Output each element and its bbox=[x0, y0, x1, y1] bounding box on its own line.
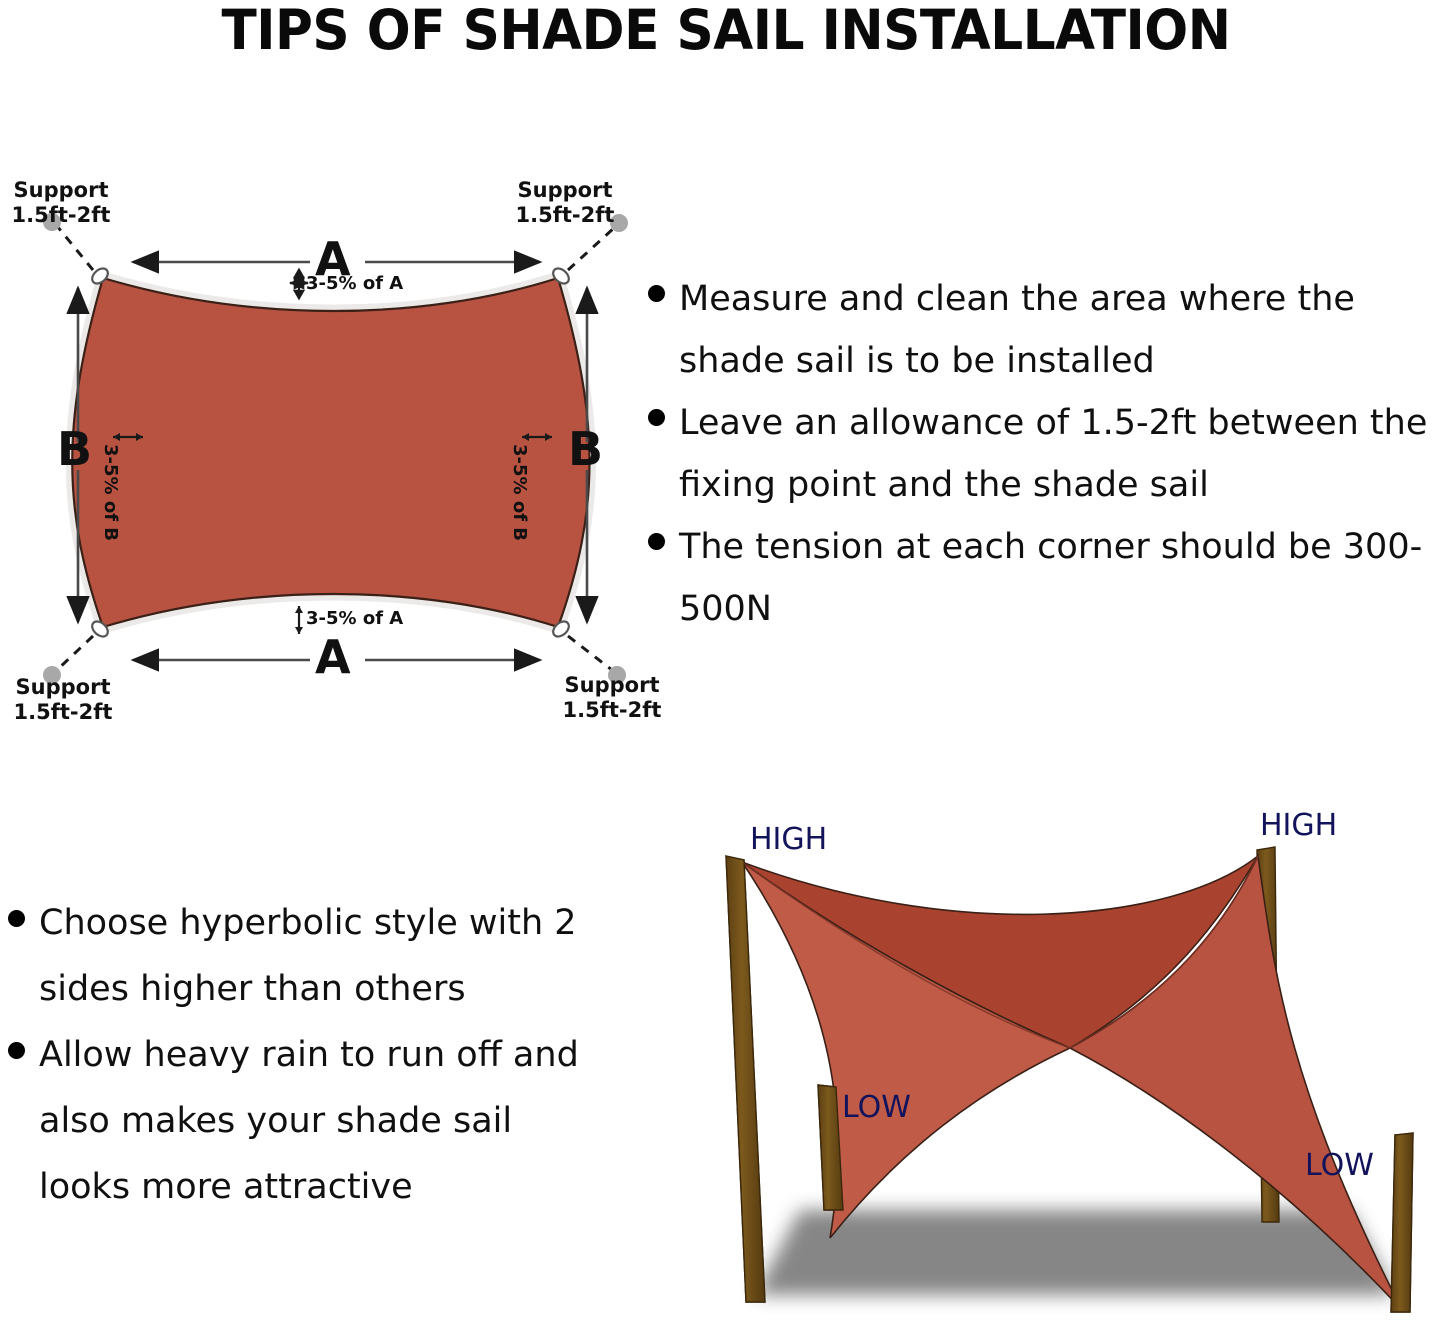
pole-front-right-overlay bbox=[1391, 1133, 1413, 1312]
list-item-label: Allow heavy rain to run off and also mak… bbox=[39, 1022, 614, 1220]
pole-label-low-left: LOW bbox=[842, 1090, 911, 1125]
bullet-dot-icon bbox=[8, 910, 25, 927]
list-item-label: Choose hyperbolic style with 2 sides hig… bbox=[39, 890, 614, 1022]
pole-back-left-overlay bbox=[726, 856, 765, 1302]
list-item: Leave an allowance of 1.5-2ft between th… bbox=[648, 392, 1452, 516]
support-label-line2: 1.5ft-2ft bbox=[12, 203, 111, 227]
page-title: TIPS OF SHADE SAIL INSTALLATION bbox=[44, 0, 1409, 66]
support-label-line1: Support bbox=[16, 675, 111, 699]
list-item: Choose hyperbolic style with 2 sides hig… bbox=[8, 890, 614, 1022]
sag-tick-bottom bbox=[295, 606, 303, 634]
dimension-label-a-bottom: A bbox=[315, 630, 351, 684]
curvature-label-left: 3-5% of B bbox=[100, 444, 121, 541]
support-label-bottom-left: Support 1.5ft-2ft bbox=[8, 675, 118, 725]
pole-label-high-right: HIGH bbox=[1260, 808, 1337, 843]
support-label-line1: Support bbox=[565, 673, 660, 697]
list-item-label: Measure and clean the area where the sha… bbox=[679, 268, 1452, 392]
bullet-dot-icon bbox=[648, 409, 665, 426]
list-item-label: Leave an allowance of 1.5-2ft between th… bbox=[679, 392, 1452, 516]
list-item-label: The tension at each corner should be 300… bbox=[679, 516, 1452, 640]
bullet-dot-icon bbox=[648, 533, 665, 550]
tips-right-list: Measure and clean the area where the sha… bbox=[648, 268, 1452, 640]
curvature-label-bottom: 3-5% of A bbox=[306, 608, 403, 629]
support-label-bottom-right: Support 1.5ft-2ft bbox=[557, 673, 667, 723]
list-item: The tension at each corner should be 300… bbox=[648, 516, 1452, 640]
ground-shadow bbox=[755, 1210, 1395, 1295]
curvature-label-right: 3-5% of B bbox=[509, 444, 530, 541]
rectangular-sail-diagram: Support 1.5ft-2ft Support 1.5ft-2ft Supp… bbox=[0, 170, 660, 730]
bullet-dot-icon bbox=[648, 285, 665, 302]
support-label-line1: Support bbox=[518, 178, 613, 202]
curvature-label-top: 3-5% of A bbox=[306, 273, 403, 294]
list-item: Measure and clean the area where the sha… bbox=[648, 268, 1452, 392]
support-label-line1: Support bbox=[14, 178, 109, 202]
list-item: Allow heavy rain to run off and also mak… bbox=[8, 1022, 614, 1220]
support-label-line2: 1.5ft-2ft bbox=[563, 698, 662, 722]
bullet-dot-icon bbox=[8, 1042, 25, 1059]
pole-label-low-right: LOW bbox=[1305, 1148, 1374, 1183]
support-label-line2: 1.5ft-2ft bbox=[14, 700, 113, 724]
support-label-line2: 1.5ft-2ft bbox=[516, 203, 615, 227]
tips-left-list: Choose hyperbolic style with 2 sides hig… bbox=[8, 890, 614, 1220]
support-label-top-right: Support 1.5ft-2ft bbox=[510, 178, 620, 228]
hyperbolic-sail-diagram: HIGH HIGH LOW LOW bbox=[650, 790, 1452, 1325]
support-label-top-left: Support 1.5ft-2ft bbox=[6, 178, 116, 228]
pole-label-high-left: HIGH bbox=[750, 822, 827, 857]
dimension-label-b-left: B bbox=[57, 422, 92, 476]
dimension-label-b-right: B bbox=[568, 422, 603, 476]
hyperbolic-sail-svg bbox=[650, 790, 1452, 1325]
